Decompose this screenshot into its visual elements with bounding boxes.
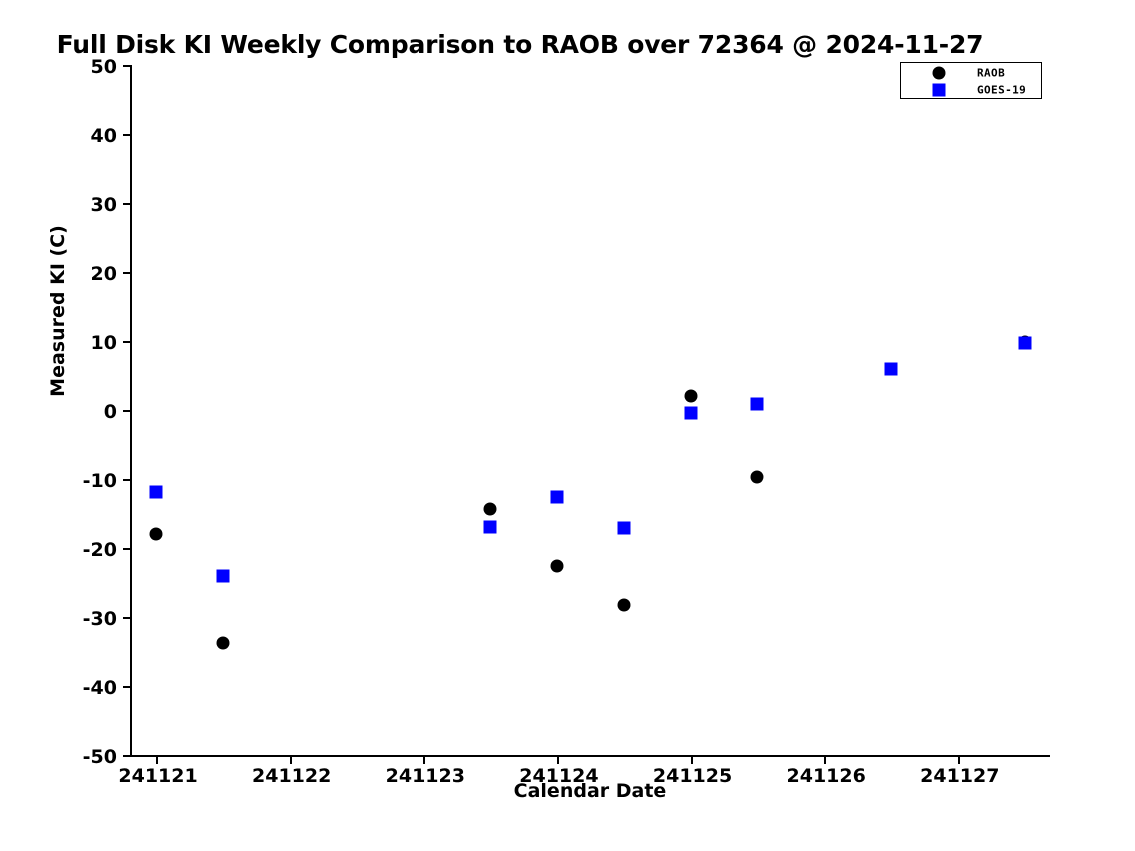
data-point-raob xyxy=(216,637,229,650)
y-tick-label: 40 xyxy=(91,125,117,147)
data-point-raob xyxy=(751,470,764,483)
y-tick-mark: 30 xyxy=(123,203,132,205)
y-tick-mark: -40 xyxy=(123,686,132,688)
x-tick-mark: 241121 xyxy=(156,755,158,764)
chart-legend: RAOBGOES-19 xyxy=(900,62,1042,99)
y-tick-label: 0 xyxy=(104,401,117,423)
scatter-canvas xyxy=(132,65,1052,757)
data-point-goes-19 xyxy=(1018,337,1031,350)
y-tick-label: -30 xyxy=(83,608,117,630)
data-point-goes-19 xyxy=(884,363,897,376)
data-point-raob xyxy=(150,528,163,541)
x-tick-mark: 241124 xyxy=(557,755,559,764)
legend-label: RAOB xyxy=(977,66,1005,79)
data-point-raob xyxy=(550,559,563,572)
x-tick-mark: 241126 xyxy=(824,755,826,764)
x-tick-mark: 241127 xyxy=(958,755,960,764)
x-tick-mark: 241125 xyxy=(691,755,693,764)
plot-area: 50403020100-10-20-30-40-5024112124112224… xyxy=(130,65,1050,757)
data-point-goes-19 xyxy=(617,521,630,534)
y-tick-mark: 50 xyxy=(123,65,132,67)
data-point-raob xyxy=(684,389,697,402)
y-tick-mark: 10 xyxy=(123,341,132,343)
data-point-raob xyxy=(484,503,497,516)
data-point-goes-19 xyxy=(484,521,497,534)
x-axis-label: Calendar Date xyxy=(130,780,1050,802)
y-tick-label: -20 xyxy=(83,539,117,561)
data-point-goes-19 xyxy=(150,486,163,499)
y-tick-mark: -30 xyxy=(123,617,132,619)
y-tick-mark: 20 xyxy=(123,272,132,274)
x-tick-mark: 241122 xyxy=(290,755,292,764)
circle-marker-icon xyxy=(933,66,946,79)
y-tick-mark: -50 xyxy=(123,755,132,757)
y-tick-label: 30 xyxy=(91,194,117,216)
y-tick-mark: 40 xyxy=(123,134,132,136)
data-point-goes-19 xyxy=(684,407,697,420)
chart-figure: Full Disk KI Weekly Comparison to RAOB o… xyxy=(0,0,1135,851)
y-axis-label: Measured KI (C) xyxy=(47,201,69,421)
y-tick-label: 20 xyxy=(91,263,117,285)
y-tick-label: 10 xyxy=(91,332,117,354)
y-tick-label: -10 xyxy=(83,470,117,492)
y-tick-mark: -20 xyxy=(123,548,132,550)
legend-item-goes-19: GOES-19 xyxy=(901,81,1041,98)
data-point-goes-19 xyxy=(216,569,229,582)
y-tick-mark: -10 xyxy=(123,479,132,481)
y-tick-label: -40 xyxy=(83,677,117,699)
y-tick-mark: 0 xyxy=(123,410,132,412)
y-tick-label: 50 xyxy=(91,56,117,78)
data-point-raob xyxy=(617,598,630,611)
square-marker-icon xyxy=(933,83,946,96)
data-point-goes-19 xyxy=(550,490,563,503)
page-title: Full Disk KI Weekly Comparison to RAOB o… xyxy=(0,30,1040,59)
x-tick-mark: 241123 xyxy=(423,755,425,764)
legend-item-raob: RAOB xyxy=(901,64,1041,81)
data-point-goes-19 xyxy=(751,398,764,411)
legend-label: GOES-19 xyxy=(977,83,1026,96)
y-tick-label: -50 xyxy=(83,746,117,768)
